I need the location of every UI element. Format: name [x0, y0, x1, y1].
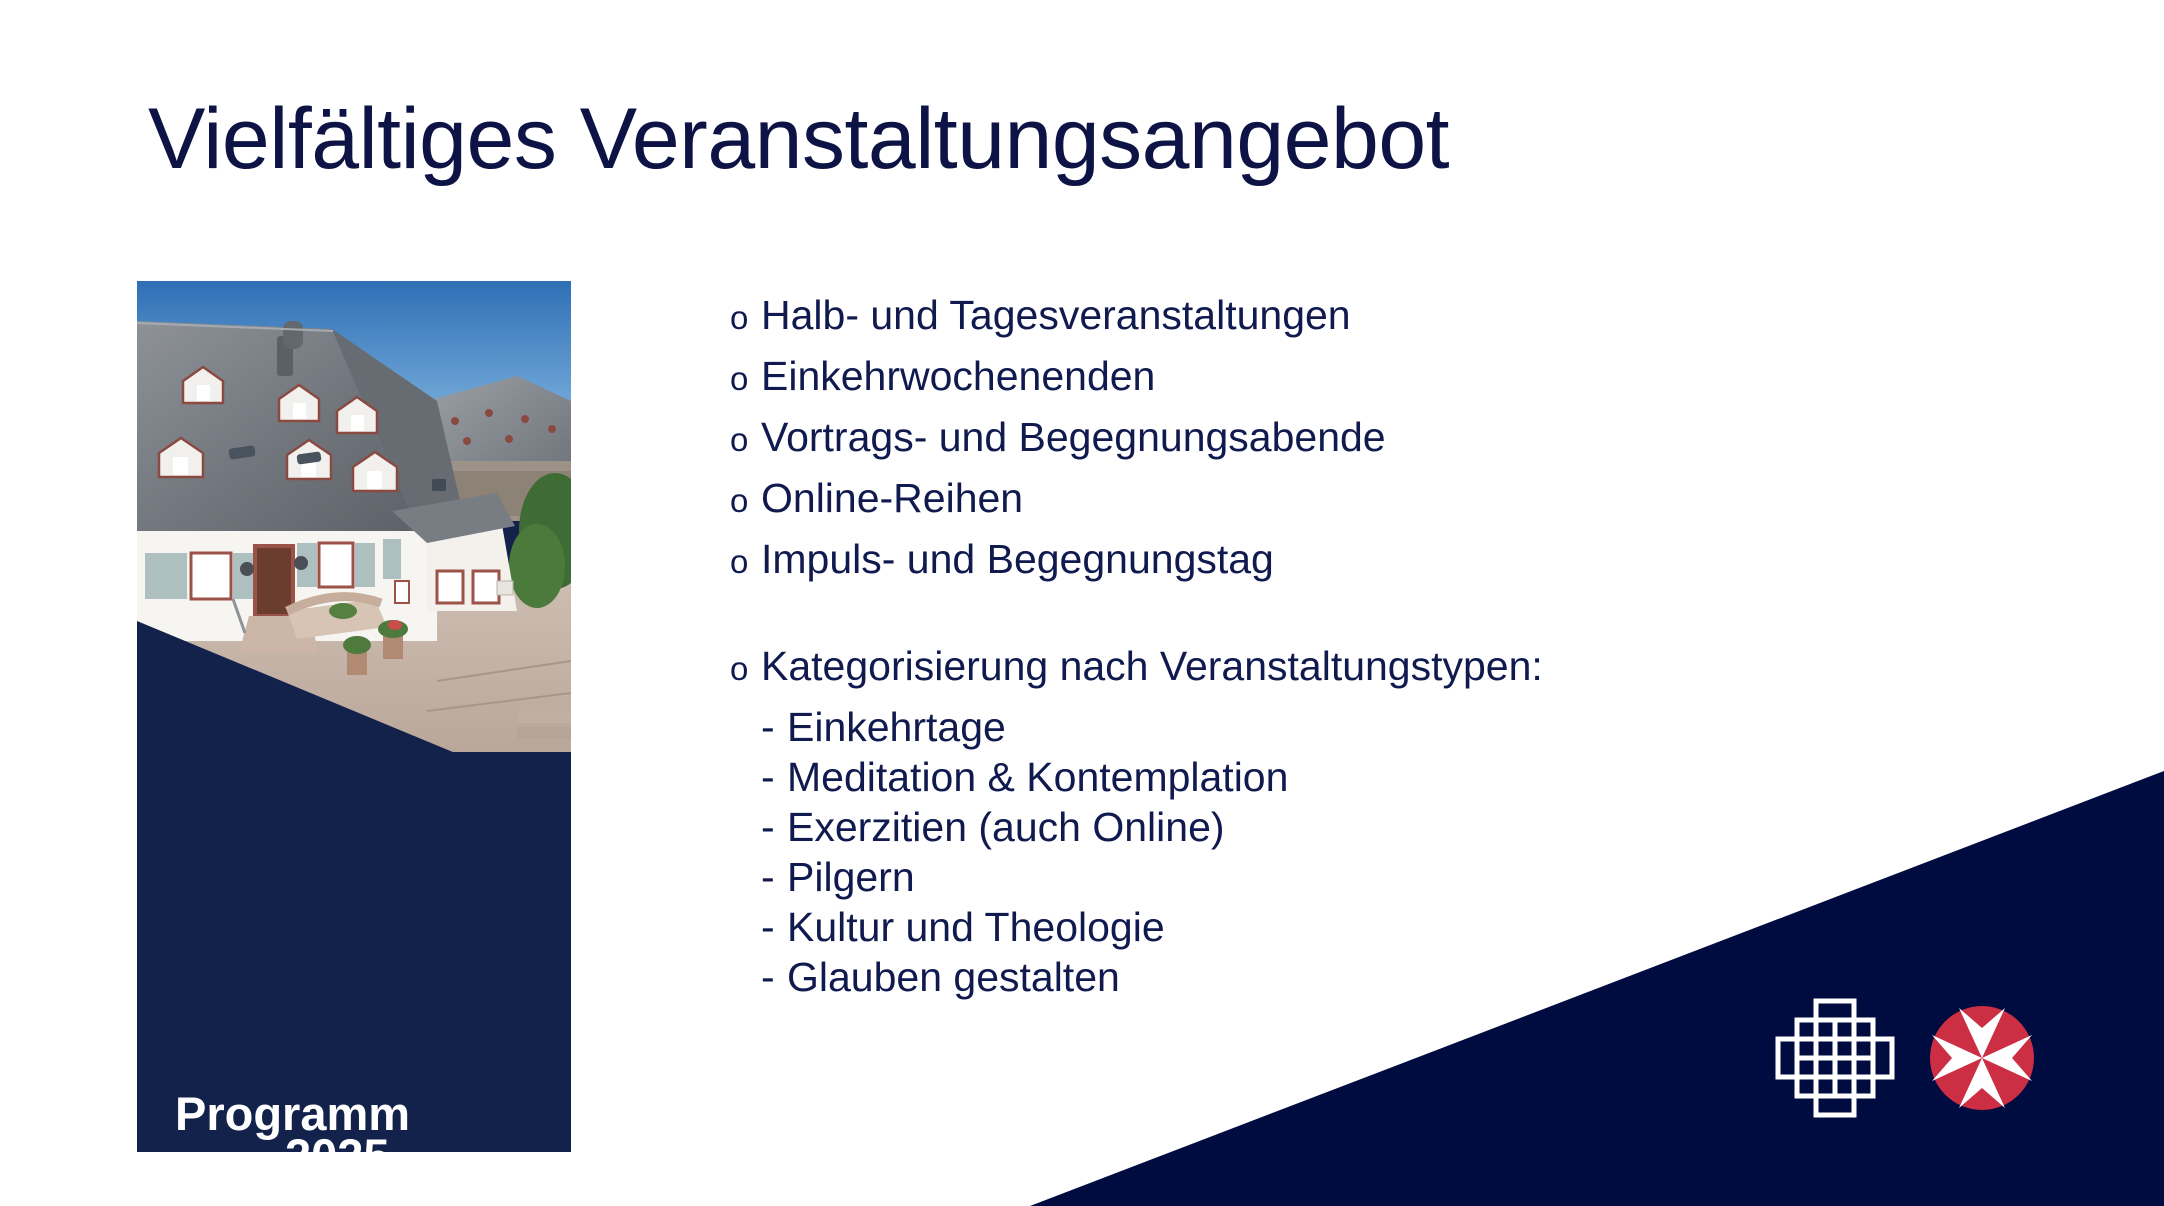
list-item-label: Vortrags- und Begegnungsabende [761, 417, 1386, 458]
slide: Vielfältiges Veranstaltungsangebot [0, 0, 2164, 1206]
list-item-label: Kategorisierung nach Veranstaltungstypen… [761, 646, 1543, 687]
dash-marker-icon: - [761, 907, 787, 948]
sub-list-item-label: Pilgern [787, 857, 915, 898]
sub-list-item-label: Einkehrtage [787, 707, 1006, 748]
dash-marker-icon: - [761, 707, 787, 748]
sub-list-item: - Meditation & Kontemplation [730, 757, 1930, 798]
bullet-content: o Halb- und Tagesveranstaltungen o Einke… [730, 295, 1930, 1007]
sub-list-item-label: Glauben gestalten [787, 957, 1120, 998]
maltese-cross-icon [1930, 1006, 2034, 1110]
bullet-marker-icon: o [730, 301, 761, 334]
page-title: Vielfältiges Veranstaltungsangebot [148, 96, 1449, 182]
brochure-cover-image: Programm 2025 Geistliches Zentrum Nieder… [137, 281, 571, 1152]
list-item: o Halb- und Tagesveranstaltungen [730, 295, 1930, 336]
list-item-categorisation: o Kategorisierung nach Veranstaltungstyp… [730, 646, 1930, 687]
bullet-marker-icon: o [730, 652, 761, 685]
bullet-marker-icon: o [730, 545, 761, 578]
list-item-label: Online-Reihen [761, 478, 1023, 519]
list-item: o Impuls- und Begegnungstag [730, 539, 1930, 580]
list-group-spacer [730, 600, 1930, 646]
brochure-text-block: Programm 2025 Geistliches Zentrum Nieder… [137, 281, 571, 1152]
list-item-label: Halb- und Tagesveranstaltungen [761, 295, 1351, 336]
list-item: o Einkehrwochenenden [730, 356, 1930, 397]
list-item: o Online-Reihen [730, 478, 1930, 519]
sub-list-item-label: Kultur und Theologie [787, 907, 1165, 948]
sub-list-item: - Einkehrtage [730, 707, 1930, 748]
list-item-label: Einkehrwochenenden [761, 356, 1155, 397]
bullet-marker-icon: o [730, 423, 761, 456]
sub-list-item-label: Meditation & Kontemplation [787, 757, 1288, 798]
brochure-year-label: 2025 [285, 1132, 390, 1152]
sub-list-item-label: Exerzitien (auch Online) [787, 807, 1225, 848]
dash-marker-icon: - [761, 857, 787, 898]
square-cross-icon [1778, 1001, 1892, 1115]
sub-list-item: - Glauben gestalten [730, 957, 1930, 998]
sub-list-item: - Pilgern [730, 857, 1930, 898]
dash-marker-icon: - [761, 807, 787, 848]
list-item-label: Impuls- und Begegnungstag [761, 539, 1274, 580]
bullet-marker-icon: o [730, 484, 761, 517]
bullet-marker-icon: o [730, 362, 761, 395]
dash-marker-icon: - [761, 757, 787, 798]
corner-logo-group [1770, 995, 2050, 1120]
dash-marker-icon: - [761, 957, 787, 998]
sub-list-item: - Exerzitien (auch Online) [730, 807, 1930, 848]
list-item: o Vortrags- und Begegnungsabende [730, 417, 1930, 458]
sub-list-item: - Kultur und Theologie [730, 907, 1930, 948]
